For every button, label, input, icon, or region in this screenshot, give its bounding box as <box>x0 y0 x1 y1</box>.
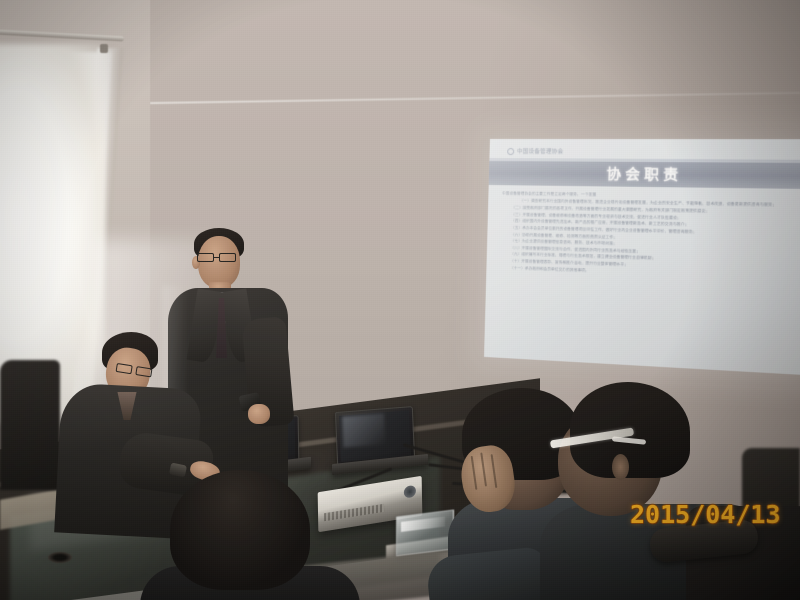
laptop-screen-glare <box>342 413 385 447</box>
presenter-hand <box>248 404 270 424</box>
slide-body-line: （六）协助开展设备管理、维修、检测等方面的资质认证工作； <box>511 232 799 244</box>
slide-body-line: （五）承办本会会员单位委托的设备管理项目评估工作，做好行业内企业设备管理水平评价… <box>511 226 799 238</box>
chair-left <box>0 360 60 490</box>
projector-lens <box>404 485 416 499</box>
glass-nameplate <box>396 509 454 556</box>
slide-title-band <box>489 161 800 189</box>
slide-body-line: （十）开展设备管理表彰、宣传和推介活动，提升行业整体管理水平； <box>510 259 798 273</box>
slide-body: 中国设备管理协会的主要工作是立足两个服务、一个发展 （一）调查研究本行业国内外设… <box>500 191 800 282</box>
association-emblem-icon <box>507 148 514 155</box>
photo-canvas: 中国设备管理协会 协会职责 中国设备管理协会的主要工作是立足两个服务、一个发展 … <box>0 0 800 600</box>
foreground-attendee-center <box>150 470 340 600</box>
slide-body-line: 中国设备管理协会的主要工作是立足两个服务、一个发展 <box>502 191 800 200</box>
cable-grommet <box>48 552 72 563</box>
slide-body-line: （三）开展设备管理、设备维修和设备改造等方面的专业培训与技术交流，促进行业人才队… <box>511 212 799 223</box>
presenter-head <box>198 236 240 288</box>
slide-title: 协会职责 <box>489 161 800 189</box>
attendee-head-back <box>170 470 310 590</box>
slide-body-line: （一）调查研究本行业国内外设备管理状况，推进企业现代化设备管理发展，为企业的安全… <box>520 198 800 207</box>
curtain-rail-bracket <box>100 44 108 53</box>
slide-body-line: （八）开展设备管理国际交流与合作，促进国内外同行业的技术与经验互鉴； <box>510 245 798 258</box>
slide-body-line: （二）接受政府部门委托的各项工作，开展设备管理行业发展的重大课题研究，为政府有关… <box>512 206 800 216</box>
laptop-right <box>336 409 414 463</box>
slide-logo: 中国设备管理协会 <box>507 147 563 155</box>
slide-body-line: （七）为企业提供设备管理信息咨询、服务、技术与市场对接； <box>511 239 799 251</box>
slide-body-line: （九）组织编写本行业标准、规程与行业技术规范，建立健全设备管理行业自律机制； <box>510 252 798 265</box>
projection-screen: 中国设备管理协会 协会职责 中国设备管理协会的主要工作是立足两个服务、一个发展 … <box>484 139 800 375</box>
attendee-ear <box>612 454 629 480</box>
camera-date-stamp: 2015/04/13 <box>630 500 781 529</box>
slide-body-line: （十一）承办政府和会员单位交办的其他事项。 <box>510 265 798 279</box>
slide-logo-text: 中国设备管理协会 <box>517 147 564 155</box>
nameplate-highlight <box>401 517 445 532</box>
slide-body-line: （四）组织国内外设备管理先进技术、新产品的推广应用，开展设备管理新技术、新工艺的… <box>511 219 799 230</box>
presenter-glasses <box>197 253 242 262</box>
